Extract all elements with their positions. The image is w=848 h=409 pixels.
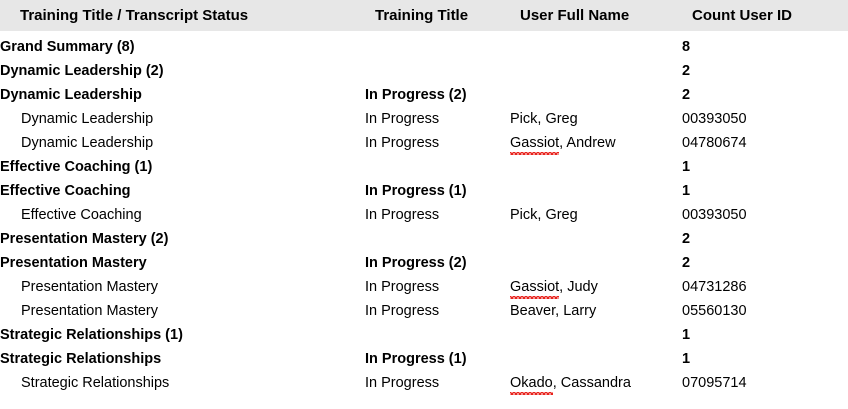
cell-training-title: [365, 59, 510, 83]
column-header-training-title-transcript-status[interactable]: Training Title / Transcript Status: [0, 0, 365, 31]
spellcheck-underlined-text: Gassiot: [510, 275, 559, 299]
cell-training-title: In Progress: [365, 131, 510, 155]
cell-training-title-transcript-status: Dynamic Leadership: [0, 131, 365, 155]
cell-count-user-id: 00393050: [682, 107, 848, 131]
cell-user-full-name: [510, 59, 682, 83]
cell-count-user-id: 1: [682, 347, 848, 371]
table-row[interactable]: Dynamic Leadership (2)2: [0, 59, 848, 83]
cell-training-title: [365, 35, 510, 59]
cell-user-full-name: [510, 323, 682, 347]
cell-user-full-name: Gassiot, Judy: [510, 275, 682, 299]
table-row[interactable]: Strategic Relationships (1)1: [0, 323, 848, 347]
cell-training-title-transcript-status: Strategic Relationships: [0, 347, 365, 371]
table-row[interactable]: Effective Coaching (1)1: [0, 155, 848, 179]
table-body: Grand Summary (8)8Dynamic Leadership (2)…: [0, 31, 848, 395]
cell-count-user-id: 2: [682, 83, 848, 107]
cell-training-title-transcript-status: Strategic Relationships (1): [0, 323, 365, 347]
cell-training-title: In Progress (2): [365, 83, 510, 107]
table-row[interactable]: Effective CoachingIn Progress (1)1: [0, 179, 848, 203]
table-row[interactable]: Effective CoachingIn ProgressPick, Greg0…: [0, 203, 848, 227]
cell-user-full-name: [510, 179, 682, 203]
cell-training-title: In Progress: [365, 299, 510, 323]
table-row[interactable]: Presentation MasteryIn ProgressGassiot, …: [0, 275, 848, 299]
user-name-remainder: , Cassandra: [553, 375, 631, 391]
cell-training-title: In Progress: [365, 371, 510, 395]
column-header-training-title[interactable]: Training Title: [365, 0, 510, 31]
cell-count-user-id: 04780674: [682, 131, 848, 155]
cell-training-title: [365, 155, 510, 179]
cell-training-title-transcript-status: Presentation Mastery: [0, 299, 365, 323]
cell-user-full-name: Beaver, Larry: [510, 299, 682, 323]
table-row[interactable]: Dynamic LeadershipIn Progress (2)2: [0, 83, 848, 107]
column-header-user-full-name[interactable]: User Full Name: [510, 0, 682, 31]
cell-training-title-transcript-status: Presentation Mastery: [0, 251, 365, 275]
cell-count-user-id: 04731286: [682, 275, 848, 299]
cell-user-full-name: [510, 155, 682, 179]
report-table: Training Title / Transcript Status Train…: [0, 0, 848, 395]
cell-user-full-name: [510, 251, 682, 275]
table-row[interactable]: Dynamic LeadershipIn ProgressPick, Greg0…: [0, 107, 848, 131]
cell-count-user-id: 00393050: [682, 203, 848, 227]
cell-count-user-id: 2: [682, 227, 848, 251]
cell-training-title-transcript-status: Presentation Mastery (2): [0, 227, 365, 251]
cell-user-full-name: [510, 347, 682, 371]
table-header-row: Training Title / Transcript Status Train…: [0, 0, 848, 31]
table-row[interactable]: Presentation MasteryIn ProgressBeaver, L…: [0, 299, 848, 323]
cell-training-title: In Progress: [365, 275, 510, 299]
table-row[interactable]: Dynamic LeadershipIn ProgressGassiot, An…: [0, 131, 848, 155]
table-row[interactable]: Presentation MasteryIn Progress (2)2: [0, 251, 848, 275]
cell-training-title: In Progress (1): [365, 179, 510, 203]
cell-user-full-name: [510, 35, 682, 59]
cell-training-title-transcript-status: Effective Coaching: [0, 203, 365, 227]
cell-training-title-transcript-status: Effective Coaching: [0, 179, 365, 203]
cell-user-full-name: Pick, Greg: [510, 203, 682, 227]
cell-count-user-id: 07095714: [682, 371, 848, 395]
table-row[interactable]: Grand Summary (8)8: [0, 35, 848, 59]
cell-training-title-transcript-status: Presentation Mastery: [0, 275, 365, 299]
cell-user-full-name: Pick, Greg: [510, 107, 682, 131]
cell-count-user-id: 2: [682, 251, 848, 275]
cell-training-title-transcript-status: Effective Coaching (1): [0, 155, 365, 179]
spellcheck-underlined-text: Gassiot: [510, 131, 559, 155]
cell-training-title-transcript-status: Dynamic Leadership: [0, 107, 365, 131]
cell-training-title: [365, 323, 510, 347]
spellcheck-underlined-text: Okado: [510, 371, 553, 395]
cell-training-title: In Progress (1): [365, 347, 510, 371]
cell-training-title: In Progress: [365, 203, 510, 227]
cell-training-title-transcript-status: Grand Summary (8): [0, 35, 365, 59]
cell-training-title-transcript-status: Strategic Relationships: [0, 371, 365, 395]
cell-training-title-transcript-status: Dynamic Leadership (2): [0, 59, 365, 83]
cell-count-user-id: 1: [682, 179, 848, 203]
cell-training-title: [365, 227, 510, 251]
cell-user-full-name: Gassiot, Andrew: [510, 131, 682, 155]
user-name-remainder: , Judy: [559, 279, 598, 295]
cell-count-user-id: 05560130: [682, 299, 848, 323]
cell-count-user-id: 1: [682, 323, 848, 347]
table-row[interactable]: Strategic RelationshipsIn ProgressOkado,…: [0, 371, 848, 395]
column-header-count-user-id[interactable]: Count User ID: [682, 0, 848, 31]
cell-count-user-id: 2: [682, 59, 848, 83]
cell-training-title: In Progress: [365, 107, 510, 131]
user-name-remainder: , Andrew: [559, 135, 615, 151]
cell-training-title: In Progress (2): [365, 251, 510, 275]
cell-training-title-transcript-status: Dynamic Leadership: [0, 83, 365, 107]
cell-user-full-name: Okado, Cassandra: [510, 371, 682, 395]
training-transcript-report: Training Title / Transcript Status Train…: [0, 0, 848, 409]
cell-count-user-id: 8: [682, 35, 848, 59]
cell-count-user-id: 1: [682, 155, 848, 179]
cell-user-full-name: [510, 83, 682, 107]
cell-user-full-name: [510, 227, 682, 251]
table-row[interactable]: Strategic RelationshipsIn Progress (1)1: [0, 347, 848, 371]
table-row[interactable]: Presentation Mastery (2)2: [0, 227, 848, 251]
table-header: Training Title / Transcript Status Train…: [0, 0, 848, 31]
